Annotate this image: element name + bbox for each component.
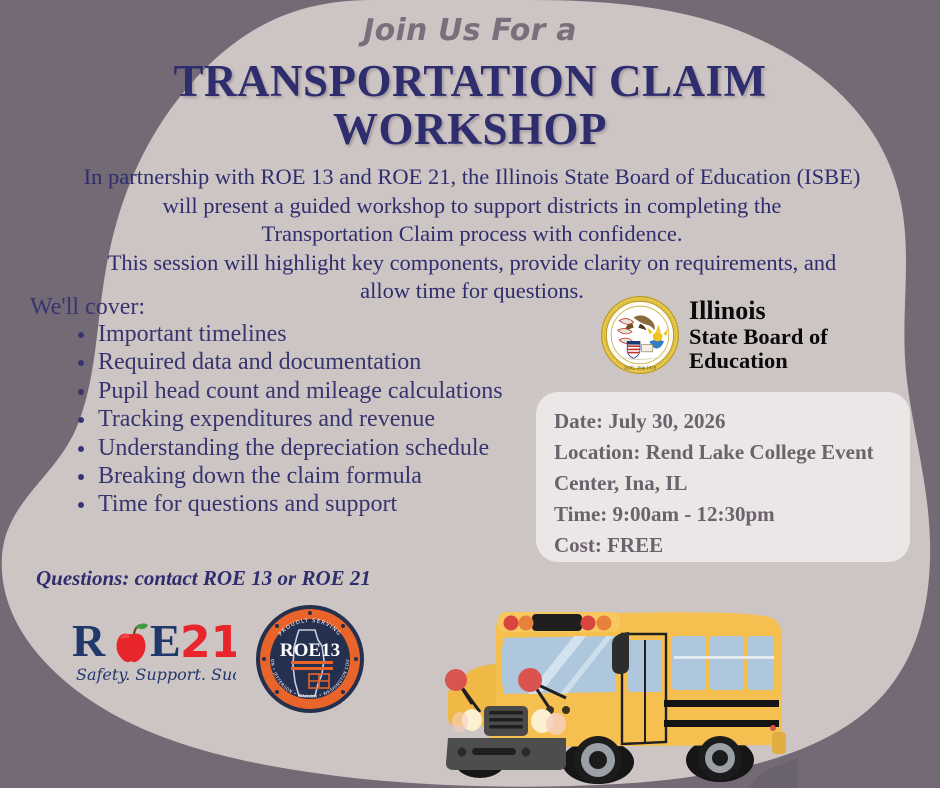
roe21-letter-e: E bbox=[150, 615, 181, 666]
roe13-logo: ROE13 PROUDLY SERVING CLINTON • JEFFERSO… bbox=[255, 604, 365, 714]
seal-date-text: AUG. 26th 1818 bbox=[624, 366, 657, 371]
roof-light-red-left bbox=[504, 616, 519, 631]
roof-light-red-right bbox=[581, 616, 596, 631]
list-item: Important timelines bbox=[76, 320, 596, 348]
side-window-3 bbox=[748, 636, 774, 690]
intro-line-2: will present a guided workshop to suppor… bbox=[163, 193, 782, 218]
details-time-line: Time: 9:00am - 12:30pm bbox=[554, 499, 892, 530]
list-item: Time for questions and support bbox=[76, 490, 596, 518]
side-window-2 bbox=[710, 636, 744, 690]
side-stripe-lower bbox=[664, 720, 779, 727]
kicker-text: Join Us For a bbox=[0, 13, 940, 48]
roe21-letter-r: R bbox=[72, 615, 106, 666]
questions-contact-line: Questions: contact ROE 13 or ROE 21 bbox=[36, 566, 371, 591]
isbe-logo: AUG. 26th 1818 Illinois State Board of E… bbox=[600, 292, 870, 378]
details-cost-line: Cost: FREE bbox=[554, 530, 892, 561]
intro-line-4: This session will highlight key componen… bbox=[108, 250, 837, 275]
roe13-wordmark: ROE13 bbox=[280, 640, 340, 661]
details-date-line: Date: July 30, 2026 bbox=[554, 406, 892, 437]
apple-icon bbox=[117, 623, 148, 662]
cover-heading: We'll cover: bbox=[30, 294, 145, 321]
title-line-1: TRANSPORTATION CLAIM bbox=[173, 56, 766, 106]
page-title: TRANSPORTATION CLAIM WORKSHOP bbox=[70, 57, 870, 153]
roof-sign bbox=[532, 614, 582, 631]
school-bus-illustration bbox=[432, 572, 798, 788]
list-item: Pupil head count and mileage calculation… bbox=[76, 377, 596, 405]
list-item: Breaking down the claim formula bbox=[76, 462, 596, 490]
intro-paragraph: In partnership with ROE 13 and ROE 21, t… bbox=[52, 163, 892, 306]
list-item: Understanding the depreciation schedule bbox=[76, 434, 596, 462]
event-details-card: Date: July 30, 2026 Location: Rend Lake … bbox=[536, 392, 910, 562]
roe21-number: 21 bbox=[180, 617, 236, 668]
intro-line-1: In partnership with ROE 13 and ROE 21, t… bbox=[84, 164, 861, 189]
flyer-canvas: Join Us For a TRANSPORTATION CLAIM WORKS… bbox=[0, 0, 940, 788]
roe21-logo: R E 21 Safety. Support. Success. bbox=[72, 614, 236, 688]
list-item: Tracking expenditures and revenue bbox=[76, 405, 596, 433]
isbe-line-3: Education bbox=[689, 350, 828, 373]
details-location-line-2: Center, Ina, IL bbox=[554, 468, 892, 499]
side-window-1 bbox=[672, 636, 706, 690]
illinois-state-seal-icon: AUG. 26th 1818 bbox=[600, 295, 680, 375]
roof-light-amber-left bbox=[519, 616, 534, 631]
intro-line-3: Transportation Claim process with confid… bbox=[262, 221, 683, 246]
details-location-line-1: Location: Rend Lake College Event bbox=[554, 437, 892, 468]
rear-marker-light bbox=[770, 725, 776, 731]
isbe-wordmark: Illinois State Board of Education bbox=[689, 298, 828, 373]
roe21-tagline: Safety. Support. Success. bbox=[76, 665, 236, 684]
roof-light-amber-right bbox=[597, 616, 612, 631]
isbe-line-2: State Board of bbox=[689, 326, 828, 349]
topics-list: Important timelines Required data and do… bbox=[48, 320, 596, 519]
side-stripe-upper bbox=[664, 700, 779, 707]
intro-line-5: allow time for questions. bbox=[360, 278, 584, 303]
list-item: Required data and documentation bbox=[76, 348, 596, 376]
title-line-2: WORKSHOP bbox=[333, 104, 607, 154]
isbe-line-1: Illinois bbox=[689, 298, 828, 324]
